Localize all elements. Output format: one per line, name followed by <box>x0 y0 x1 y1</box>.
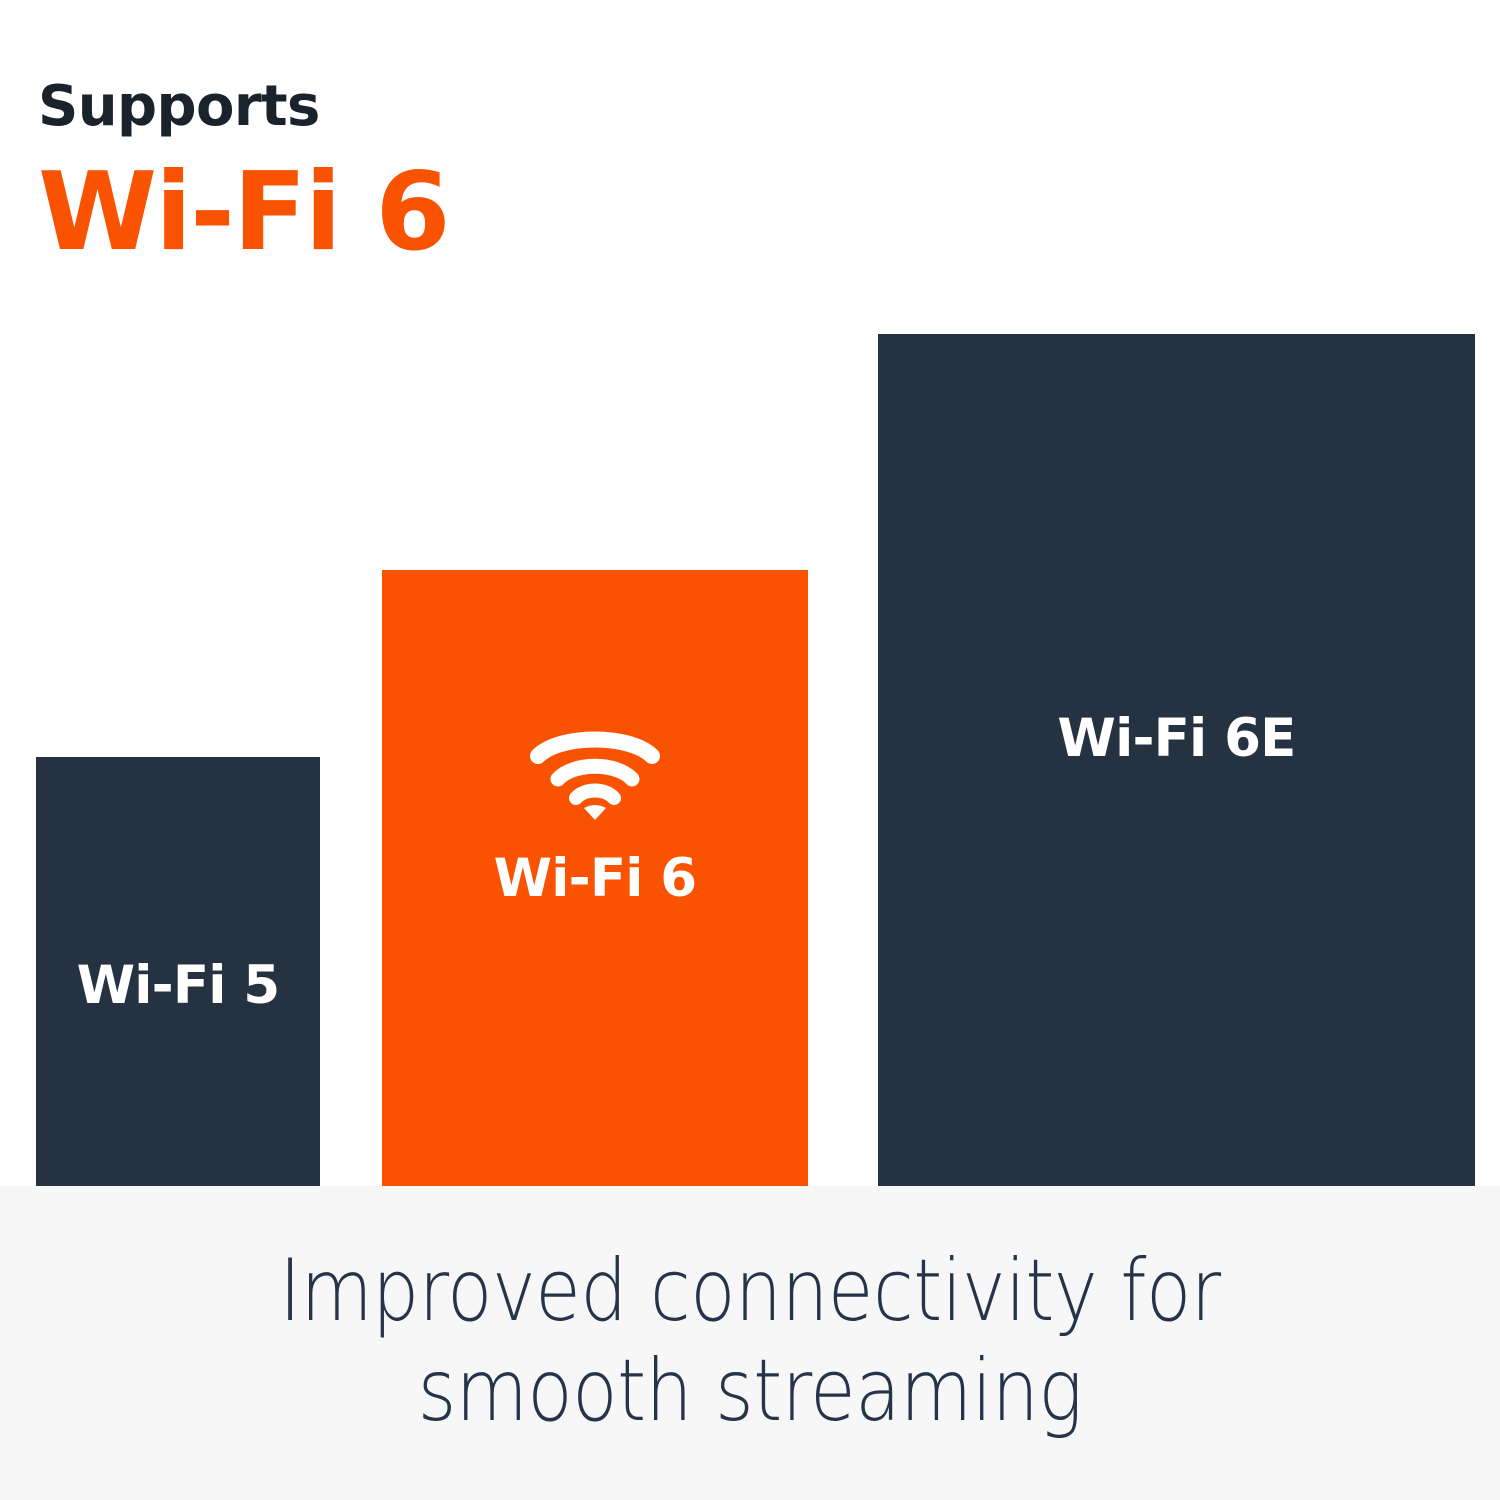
caption-text: Improved connectivity for smooth streami… <box>105 1242 1395 1442</box>
bar-wifi-6: Wi-Fi 6 <box>382 570 808 1186</box>
bar-label-wifi-6e: Wi-Fi 6E <box>878 711 1475 767</box>
wifi-icon <box>530 728 660 820</box>
headline-main: Wi-Fi 6 <box>38 150 449 276</box>
caption-panel: Improved connectivity for smooth streami… <box>0 1186 1500 1500</box>
bar-label-wifi-5: Wi-Fi 5 <box>36 958 320 1014</box>
promo-card: Supports Wi-Fi 6 Wi-Fi 5 Wi-Fi 6 Wi-Fi 6… <box>0 0 1500 1500</box>
headline-block: Supports Wi-Fi 6 <box>38 74 449 276</box>
bar-wifi-6e: Wi-Fi 6E <box>878 334 1475 1186</box>
bar-wifi-5: Wi-Fi 5 <box>36 757 320 1186</box>
bar-label-wifi-6: Wi-Fi 6 <box>382 851 808 907</box>
headline-eyebrow: Supports <box>38 74 449 140</box>
